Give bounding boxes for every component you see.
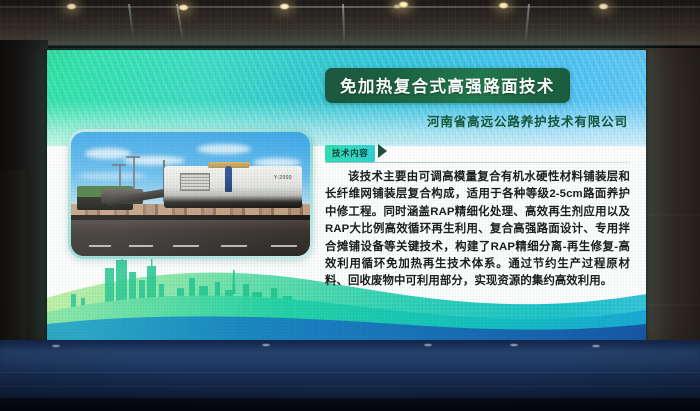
section-divider: [325, 162, 630, 163]
slide-photo-frame: Y-2000: [68, 129, 313, 259]
section-label-badge: 技术内容: [325, 145, 375, 162]
conference-room-scene: Y-2000 免加热复合式高强路面技术 河南省高远公路养护技术有限公司 技术内容…: [0, 0, 700, 411]
ceiling: [0, 0, 700, 48]
slide-company-name: 河南省高远公路养护技术有限公司: [325, 111, 630, 130]
ceiling-spotlight: [279, 3, 290, 10]
floor-foreground-shadow: [0, 398, 700, 411]
road-surface: [71, 220, 310, 256]
floor-light-reflection: [52, 345, 60, 347]
machine-grill: [180, 173, 210, 191]
chevron-right-icon: [378, 144, 387, 158]
floor-light-reflection: [510, 344, 518, 346]
ceiling-spotlight: [178, 4, 189, 11]
floor-reflection: [0, 348, 700, 374]
slide-title-banner: 免加热复合式高强路面技术: [325, 68, 570, 103]
ceiling-spotlight: [66, 3, 77, 10]
ceiling-smoke-detector-icon: [393, 4, 401, 9]
ceiling-spotlight: [498, 2, 509, 9]
slide-title: 免加热复合式高强路面技术: [340, 78, 555, 96]
milling-machine: Y-2000: [164, 166, 302, 208]
left-wall-column-shadow: [0, 170, 26, 342]
worker-figure: [225, 166, 232, 192]
slide-text-column: 免加热复合式高强路面技术 河南省高远公路养护技术有限公司 技术内容 该技术主要由…: [325, 68, 630, 291]
ceiling-rail: [0, 6, 700, 8]
floor-light-reflection: [592, 345, 600, 347]
section-label-row: 技术内容: [325, 143, 630, 158]
machine-model-label: Y-2000: [274, 175, 292, 181]
led-presentation-screen: Y-2000 免加热复合式高强路面技术 河南省高远公路养护技术有限公司 技术内容…: [47, 50, 646, 340]
floor-light-reflection: [424, 344, 432, 346]
slide-body-text: 该技术主要由可调高模量复合有机水硬性材料铺装层和长纤维网铺装层复合构成，适用于各…: [325, 169, 630, 291]
floor-light-reflection: [262, 344, 270, 346]
floor-seam: [0, 386, 700, 387]
ceiling-spotlight: [598, 3, 609, 10]
floor-seam: [0, 372, 700, 373]
construction-site-photo: Y-2000: [71, 132, 310, 256]
